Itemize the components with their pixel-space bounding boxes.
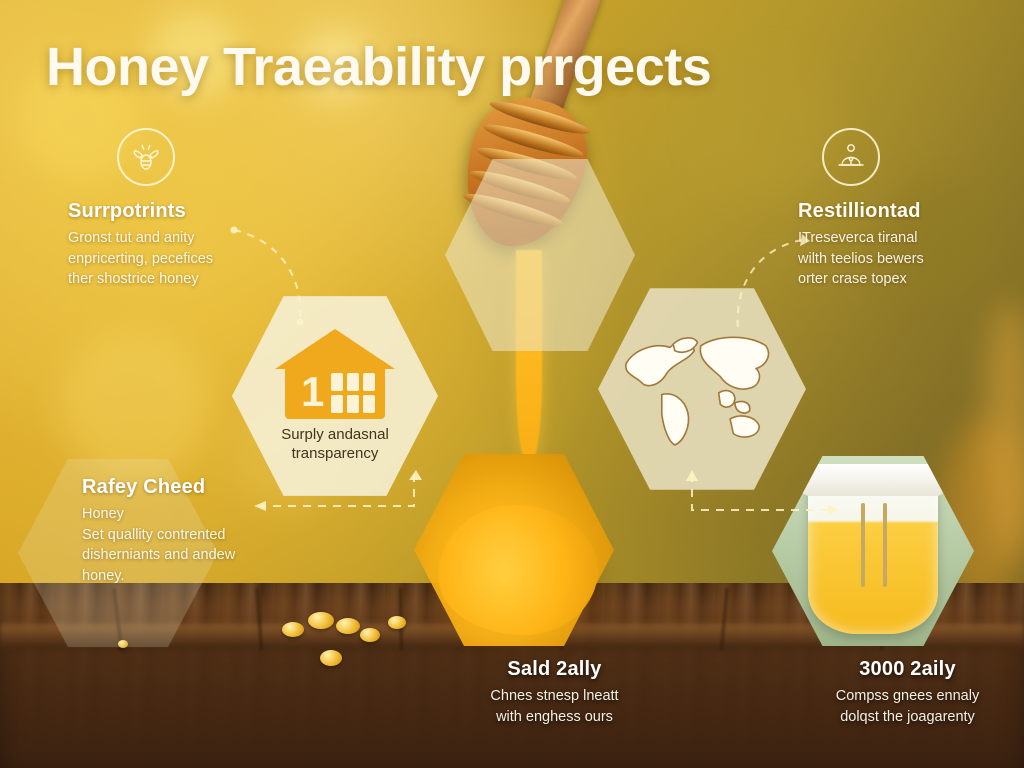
honey-droplet [336,618,360,634]
block-heading: Rafey Cheed [82,476,297,499]
honey-droplet [388,616,406,629]
hexagon-label-line: Surply andasnal [255,425,416,444]
block-heading: 3000 2aily [800,658,1015,681]
block-mid-left: Rafey Cheed Honey Set quallity contrente… [82,476,297,586]
bee-icon [117,128,175,186]
bokeh-light [700,60,840,200]
block-body-line: with enghess ours [447,707,662,728]
block-body-line: Honey [82,504,297,525]
block-top-right: Restilliontad ITreseverca tiranal wilth … [798,200,1013,290]
block-body-line: ther shostrice honey [68,269,303,290]
hexagon-badge-number: 1 [301,371,324,413]
block-body-line: Compss gnees ennaly [800,686,1015,707]
block-heading: Sald 2ally [447,658,662,681]
beehive-house-icon: 1 [275,329,395,419]
block-heading: Surrpotrints [68,200,303,223]
infographic-canvas: 1 Surply andasnal transparency [0,0,1024,768]
world-map-icon [613,307,792,471]
block-body-line: wilth teelios bewers [798,249,1013,270]
block-bottom-center: Sald 2ally Chnes stnesp lneatt with engh… [447,658,662,727]
block-body-line: orter crase topex [798,269,1013,290]
honey-droplet [308,612,334,629]
page-title: Honey Traeability prrgects [46,36,711,98]
hexagon-label-line: transparency [255,444,416,463]
honey-droplet [360,628,380,642]
hexagon-supply-label: Surply andasnal transparency [255,425,416,463]
block-heading: Restilliontad [798,200,1013,223]
honey-droplet [282,622,304,637]
block-body-line: Chnes stnesp lneatt [447,686,662,707]
honey-droplet [320,650,342,666]
block-body-line: Set quallity contrented [82,525,297,546]
block-body-line: enpricerting, pecefices [68,249,303,270]
block-body-line: disherniants and andew [82,545,297,566]
block-top-left: Surrpotrints Gronst tut and anity enpric… [68,200,303,290]
block-body-line: ITreseverca tiranal [798,228,1013,249]
beehive-icon [822,128,880,186]
bokeh-light [60,330,210,480]
block-bottom-right: 3000 2aily Compss gnees ennaly dolqst th… [800,658,1015,727]
block-body-line: dolqst the joagarenty [800,707,1015,728]
block-body-line: honey. [82,566,297,587]
block-body-line: Gronst tut and anity [68,228,303,249]
